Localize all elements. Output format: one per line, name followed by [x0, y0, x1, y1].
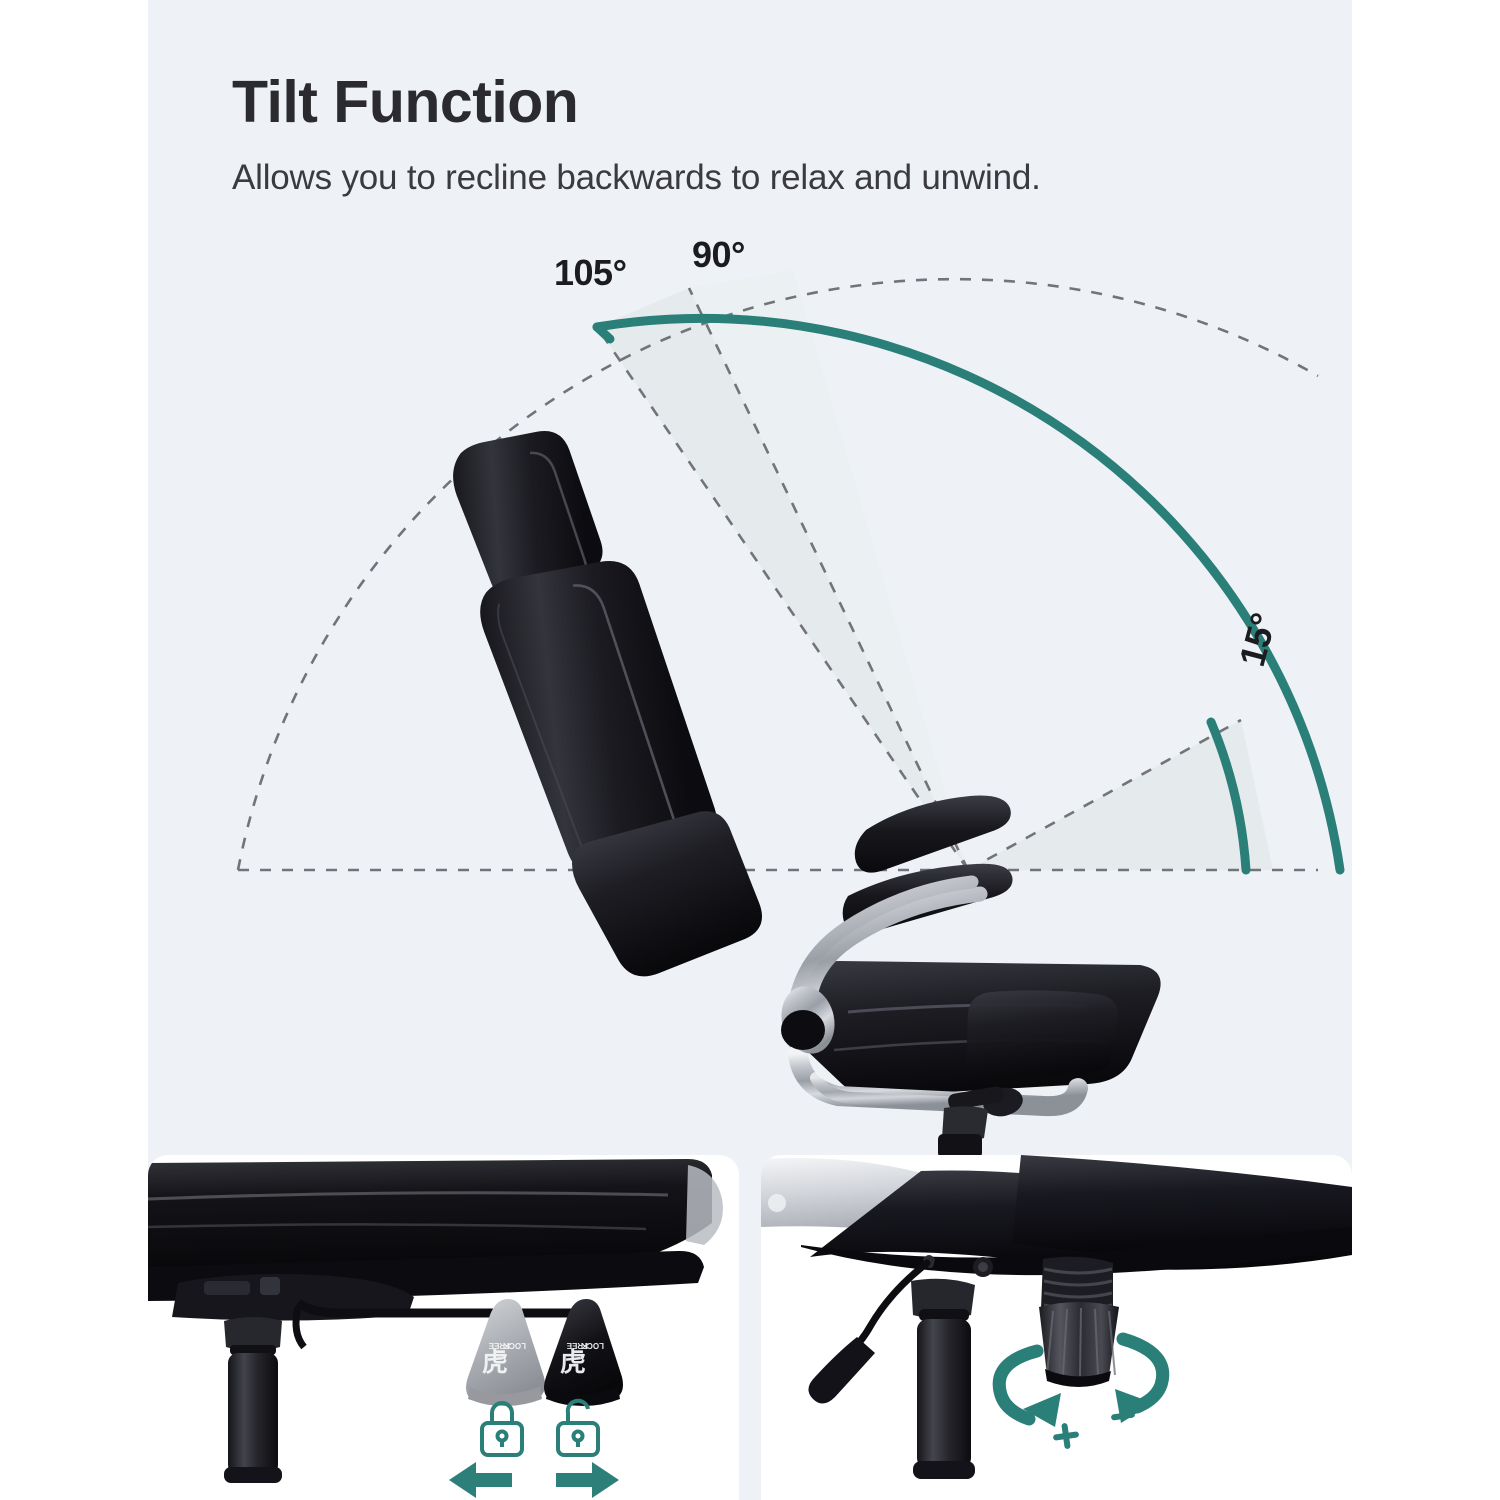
angle-arc-graphic [148, 230, 1352, 1160]
page-title: Tilt Function [232, 72, 1292, 134]
tilt-lock-lever-detail-panel: FREE LOCK 虎 FREE LOCK 虎 [148, 1155, 739, 1500]
svg-text:虎: 虎 [482, 1348, 508, 1377]
svg-text:虎: 虎 [560, 1348, 586, 1377]
tilt-angle-diagram: 105° 90° 15° [148, 230, 1352, 1160]
arrow-right [556, 1462, 619, 1498]
page-subtitle: Allows you to recline backwards to relax… [232, 158, 1292, 198]
tilt-tension-knob-detail-panel [761, 1155, 1352, 1500]
page-root: Tilt Function Allows you to recline back… [0, 0, 1500, 1500]
locked-padlock-icon [482, 1403, 522, 1455]
angle-label-105: 105° [554, 252, 626, 294]
arrow-left [449, 1462, 512, 1498]
plus-symbol [1053, 1423, 1080, 1450]
detail-panels: FREE LOCK 虎 FREE LOCK 虎 [148, 1155, 1352, 1500]
header: Tilt Function Allows you to recline back… [232, 72, 1292, 198]
unlocked-padlock-icon [558, 1401, 598, 1455]
angle-label-90: 90° [692, 234, 745, 276]
